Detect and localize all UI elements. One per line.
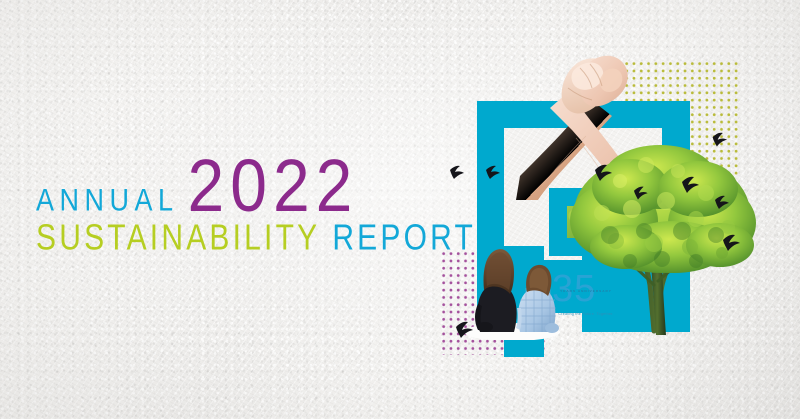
cover-title-block: ANNUAL 2022 SUSTAINABILITY REPORT [36, 158, 436, 259]
cover-collage: 35 YEARS ANNIVERSARY Creating the Future… [430, 50, 800, 380]
anniversary-years-label: YEARS ANNIVERSARY [554, 289, 618, 293]
title-year: 2022 [188, 150, 359, 220]
title-word-annual: ANNUAL [36, 182, 179, 219]
title-line-1: ANNUAL 2022 [36, 158, 436, 221]
anniversary-tagline: Creating the Future. Together. [552, 312, 620, 316]
two-children-sitting-photo [460, 228, 565, 340]
title-word-sustainability: SUSTAINABILITY [36, 218, 320, 259]
title-line-2: SUSTAINABILITY REPORT [36, 225, 436, 259]
anniversary-logo: 35 YEARS ANNIVERSARY Creating the Future… [552, 268, 620, 322]
report-cover: ANNUAL 2022 SUSTAINABILITY REPORT [0, 0, 800, 419]
